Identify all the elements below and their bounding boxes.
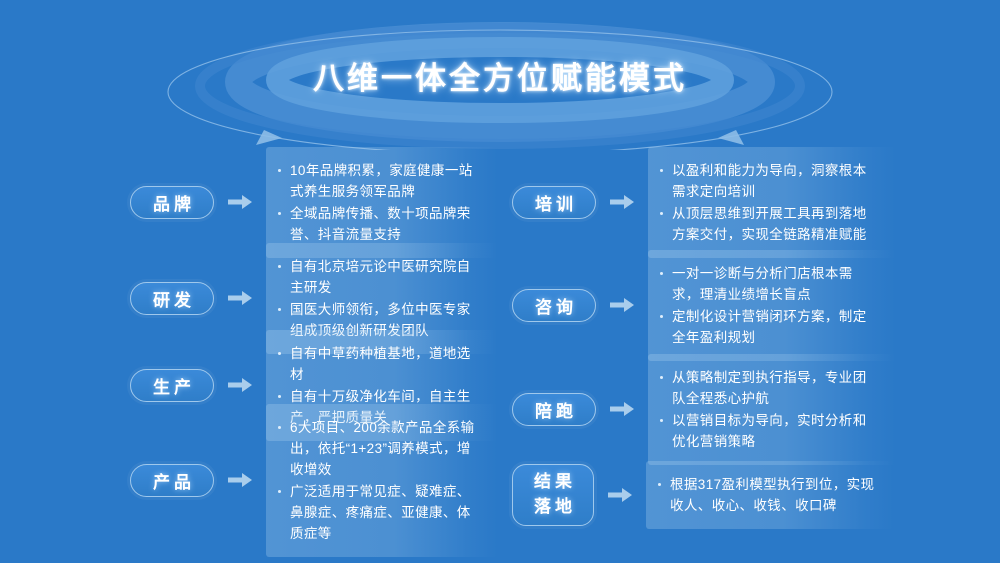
pill-results-label-line2: 落地 [530, 495, 576, 520]
panel-brand: 10年品牌积累，家庭健康一站式养生服务领军品牌 全域品牌传播、数十项品牌荣誉、抖… [266, 147, 498, 258]
pill-brand-label: 品牌 [149, 190, 195, 215]
pill-results-label-line1: 结果 [530, 470, 576, 495]
panel-coaching: 从策略制定到执行指导，专业团队全程悉心护航 以营销目标为导向，实时分析和优化营销… [648, 354, 896, 465]
pill-consulting[interactable]: 咨询 [512, 289, 596, 322]
panel-training: 以盈利和能力为导向，洞察根本需求定向培训 从顶层思维到开展工具再到落地方案交付，… [648, 147, 896, 258]
bullet-list-brand: 10年品牌积累，家庭健康一站式养生服务领军品牌 全域品牌传播、数十项品牌荣誉、抖… [276, 160, 482, 245]
list-item: 以营销目标为导向，实时分析和优化营销策略 [658, 410, 880, 452]
list-item: 自有北京培元论中医研究院自主研发 [276, 256, 482, 298]
pill-consulting-label: 咨询 [531, 293, 577, 318]
arrow-right-icon [609, 192, 635, 212]
list-item: 定制化设计营销闭环方案，制定全年盈利规划 [658, 306, 880, 348]
list-item: 从策略制定到执行指导，专业团队全程悉心护航 [658, 367, 880, 409]
arrow-right-icon [227, 288, 253, 308]
pill-rnd[interactable]: 研发 [130, 282, 214, 315]
pill-training-label: 培训 [531, 190, 577, 215]
pill-product-label: 产品 [149, 468, 195, 493]
arrow-right-icon [609, 295, 635, 315]
list-item: 6大项目、200余款产品全系输出，依托“1+23”调养模式，增收增效 [276, 417, 482, 480]
bullet-list-results: 根据317盈利模型执行到位，实现收人、收心、收钱、收口碑 [656, 474, 878, 516]
panel-results: 根据317盈利模型执行到位，实现收人、收心、收钱、收口碑 [646, 461, 894, 529]
panel-consulting: 一对一诊断与分析门店根本需求，理清业绩增长盲点 定制化设计营销闭环方案，制定全年… [648, 250, 896, 361]
pill-coaching[interactable]: 陪跑 [512, 393, 596, 426]
list-item: 一对一诊断与分析门店根本需求，理清业绩增长盲点 [658, 263, 880, 305]
bullet-list-rnd: 自有北京培元论中医研究院自主研发 国医大师领衔，多位中医专家组成顶级创新研发团队 [276, 256, 482, 341]
page-title: 八维一体全方位赋能模式 [0, 53, 1000, 98]
list-item: 从顶层思维到开展工具再到落地方案交付，实现全链路精准赋能 [658, 203, 880, 245]
bullet-list-training: 以盈利和能力为导向，洞察根本需求定向培训 从顶层思维到开展工具再到落地方案交付，… [658, 160, 880, 245]
arrow-right-icon [227, 375, 253, 395]
slide-canvas: 八维一体全方位赋能模式 品牌 10年品牌积累，家庭健康一站式养生服务领军品牌 全… [0, 0, 1000, 563]
pill-training[interactable]: 培训 [512, 186, 596, 219]
pill-production-label: 生产 [149, 373, 195, 398]
pill-rnd-label: 研发 [149, 286, 195, 311]
list-item: 自有中草药种植基地，道地选材 [276, 343, 482, 385]
list-item: 根据317盈利模型执行到位，实现收人、收心、收钱、收口碑 [656, 474, 878, 516]
panel-product: 6大项目、200余款产品全系输出，依托“1+23”调养模式，增收增效 广泛适用于… [266, 404, 498, 557]
pill-production[interactable]: 生产 [130, 369, 214, 402]
pill-results[interactable]: 结果 落地 [512, 464, 594, 526]
pill-brand[interactable]: 品牌 [130, 186, 214, 219]
bullet-list-consulting: 一对一诊断与分析门店根本需求，理清业绩增长盲点 定制化设计营销闭环方案，制定全年… [658, 263, 880, 348]
list-item: 以盈利和能力为导向，洞察根本需求定向培训 [658, 160, 880, 202]
bullet-list-coaching: 从策略制定到执行指导，专业团队全程悉心护航 以营销目标为导向，实时分析和优化营销… [658, 367, 880, 452]
pill-coaching-label: 陪跑 [531, 397, 577, 422]
arrow-right-icon [227, 470, 253, 490]
list-item: 广泛适用于常见症、疑难症、鼻腺症、疼痛症、亚健康、体质症等 [276, 481, 482, 544]
list-item: 全域品牌传播、数十项品牌荣誉、抖音流量支持 [276, 203, 482, 245]
arrow-right-icon [609, 399, 635, 419]
list-item: 10年品牌积累，家庭健康一站式养生服务领军品牌 [276, 160, 482, 202]
arrow-right-icon [227, 192, 253, 212]
arrow-right-icon [607, 485, 633, 505]
pill-product[interactable]: 产品 [130, 464, 214, 497]
bullet-list-product: 6大项目、200余款产品全系输出，依托“1+23”调养模式，增收增效 广泛适用于… [276, 417, 482, 544]
